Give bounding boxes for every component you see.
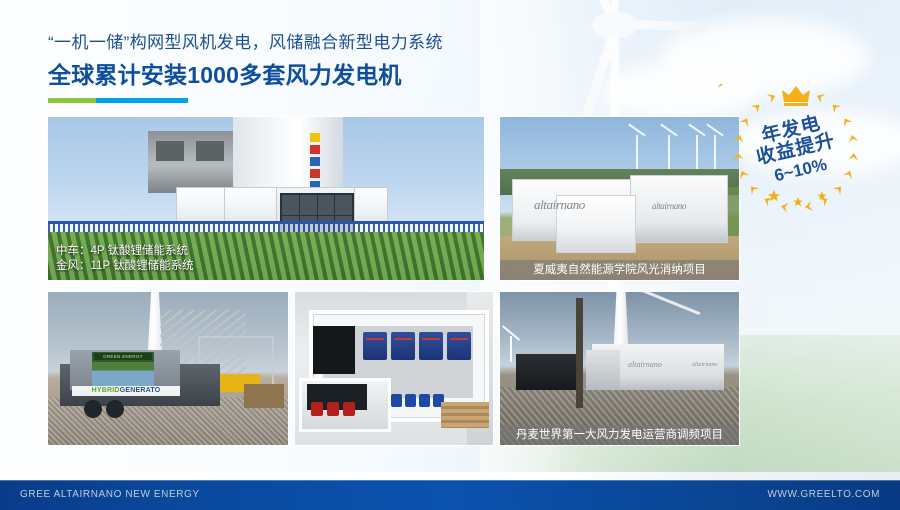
wind-turbine xyxy=(668,135,670,169)
warning-signs xyxy=(310,133,320,193)
photo-crrc-goldwind-bess[interactable]: 中车：4P 钛酸锂储能系统 金风：11P 钛酸锂储能系统 xyxy=(48,117,484,280)
concrete-building xyxy=(148,131,238,193)
wind-turbine xyxy=(696,135,698,169)
dark-container xyxy=(516,354,578,390)
title-underline xyxy=(48,98,188,103)
dark-component xyxy=(313,326,355,374)
photo-hawaii-altairnano[interactable]: altairnano altairnano 夏威夷自然能源学院风光消纳项目 xyxy=(500,117,739,280)
photo-caption: 夏威夷自然能源学院风光消纳项目 xyxy=(500,260,739,280)
photo-overlay-caption: 中车：4P 钛酸锂储能系统 金风：11P 钛酸锂储能系统 xyxy=(56,244,194,274)
wooden-crate xyxy=(244,384,284,408)
photo-denmark-frequency-regulation[interactable]: altairnano altairnano 丹麦世界第一大风力发电运营商调频项目 xyxy=(500,292,739,445)
site-fence-rail xyxy=(48,221,484,224)
wooden-pallet xyxy=(441,402,489,428)
overlay-line-2: 金风：11P 钛酸锂储能系统 xyxy=(56,259,194,274)
warning-sign-icon xyxy=(310,133,320,142)
page-subtitle: “一机一储”构网型风机发电，风储融合新型电力系统 xyxy=(48,32,443,53)
utility-pole xyxy=(576,298,583,408)
turbine-blade xyxy=(545,0,623,31)
hybrid-generator-brand: HYBRIDGENERATO xyxy=(72,386,180,396)
trailer-wheel xyxy=(106,400,124,418)
inverter-module xyxy=(391,332,415,360)
photo-scene: altairnano altairnano xyxy=(500,292,739,445)
power-socket-red xyxy=(311,402,323,416)
underline-green-segment xyxy=(48,98,96,103)
photo-generator-interior[interactable] xyxy=(295,292,493,445)
brand-prefix: HYBRID xyxy=(92,387,120,394)
altairnano-logo-small: altairnano xyxy=(692,362,717,368)
brand-suffix: GENERATO xyxy=(120,387,161,394)
altairnano-logo-small: altairnano xyxy=(652,201,686,211)
footer-separator xyxy=(0,472,900,480)
footer-website-url[interactable]: WWW.GREELTO.COM xyxy=(767,480,880,510)
turbine-blade xyxy=(619,292,700,315)
warning-sign-icon xyxy=(310,169,320,178)
photo-scene: altairnano altairnano xyxy=(500,117,739,280)
award-badge: 年发电 收益提升 6~10% xyxy=(718,84,874,216)
altairnano-logo: altairnano xyxy=(534,197,585,213)
photo-caption: 丹麦世界第一大风力发电运营商调频项目 xyxy=(500,425,739,445)
photo-grid: 中车：4P 钛酸锂储能系统 金风：11P 钛酸锂储能系统 altairnano … xyxy=(48,117,739,445)
warning-sign-icon xyxy=(310,157,320,166)
inverter-module xyxy=(419,332,443,360)
warning-sign-icon xyxy=(310,145,320,154)
footer-bar: GREE ALTAIRNANO NEW ENERGY WWW.GREELTO.C… xyxy=(0,480,900,510)
power-socket-blue xyxy=(419,394,430,407)
power-socket-blue xyxy=(405,394,416,407)
power-socket-red xyxy=(343,402,355,416)
photo-scene: GREEN ENERGY HYBRIDGENERATO xyxy=(48,292,288,445)
overlay-line-1: 中车：4P 钛酸锂储能系统 xyxy=(56,244,194,259)
wind-turbine xyxy=(636,135,638,169)
footer-company-name: GREE ALTAIRNANO NEW ENERGY xyxy=(20,480,200,510)
battery-building-annex xyxy=(586,350,620,390)
underline-blue-segment xyxy=(96,98,188,103)
photo-scene xyxy=(295,292,493,445)
photo-hybrid-generator-trailer[interactable]: GREEN ENERGY HYBRIDGENERATO xyxy=(48,292,288,445)
slide-root: “一机一储”构网型风机发电，风储融合新型电力系统 全球累计安装1000多套风力发… xyxy=(0,0,900,510)
power-socket-red xyxy=(327,402,339,416)
wind-turbine xyxy=(510,336,512,362)
turbine-hub xyxy=(592,12,638,38)
inverter-module xyxy=(447,332,471,360)
trailer-wheel xyxy=(84,400,102,418)
turbine-blade xyxy=(613,19,706,31)
power-socket-blue xyxy=(391,394,402,407)
inverter-module xyxy=(363,332,387,360)
page-title: 全球累计安装1000多套风力发电机 xyxy=(48,56,443,90)
header: “一机一储”构网型风机发电，风储融合新型电力系统 全球累计安装1000多套风力发… xyxy=(48,32,443,103)
footer: GREE ALTAIRNANO NEW ENERGY WWW.GREELTO.C… xyxy=(0,472,900,510)
green-energy-banner: GREEN ENERGY xyxy=(94,353,152,360)
altairnano-logo: altairnano xyxy=(628,360,662,369)
